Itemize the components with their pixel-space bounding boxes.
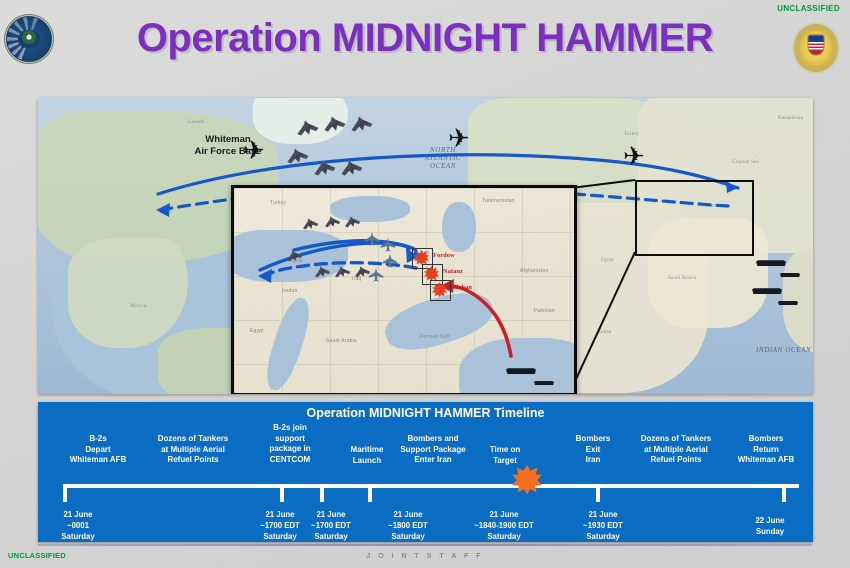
timeline-date-line: Saturday — [558, 531, 648, 542]
timeline-date-line: Saturday — [30, 531, 126, 542]
timeline-date-line: ~0001 — [30, 520, 126, 531]
timeline-event-date: 21 June ~1800 EDT Saturday — [368, 509, 448, 542]
timeline-title: Operation MIDNIGHT HAMMER Timeline — [38, 406, 813, 420]
map-highlight-region-box — [635, 180, 754, 256]
page-title: Operation MIDNIGHT HAMMER — [0, 16, 850, 61]
timeline-tick — [320, 484, 324, 502]
timeline-event-line: Whiteman AFB — [718, 455, 814, 466]
timeline-date-line: 21 June — [444, 509, 564, 520]
operation-map: Canada Mexico Libya Egypt Turkey Iran Sa… — [38, 98, 813, 394]
timeline-event-date: 21 June ~1840-1900 EDT Saturday — [444, 509, 564, 542]
timeline-event-label: B-2s join support package in CENTCOM — [243, 423, 337, 465]
timeline-event-line: CENTCOM — [243, 455, 337, 466]
inset-route-paths — [234, 188, 574, 393]
timeline-event-line: Bombers — [718, 434, 814, 445]
fighter-escort-icon — [380, 238, 396, 252]
warship-icon — [752, 284, 782, 294]
timeline-event-date: 21 June ~1700 EDT Saturday — [291, 509, 371, 542]
whiteman-afb-label-line: Air Force Base — [168, 146, 288, 158]
timeline-event-line: Bombers and — [372, 434, 494, 445]
warship-icon — [534, 378, 554, 385]
timeline-event-line: Return — [718, 445, 814, 456]
fighter-escort-icon — [382, 254, 398, 268]
timeline-date-line: 21 June — [30, 509, 126, 520]
fighter-escort-icon — [368, 268, 384, 282]
timeline-tick — [782, 484, 786, 502]
inset-connector-top — [571, 180, 635, 188]
timeline-event-line: support — [243, 434, 337, 445]
maritime-strike-path — [444, 286, 511, 356]
whiteman-afb-label: Whiteman Air Force Base — [168, 134, 288, 158]
warship-icon — [780, 270, 800, 277]
route-return-arrowhead — [156, 203, 170, 217]
inset-map-middle-east: Turkey Syria Iraq Iran Saudi Arabia Jord… — [231, 185, 577, 394]
footer-organization: J O I N T S T A F F — [0, 553, 850, 560]
inset-connector-bottom — [571, 252, 635, 390]
timeline-date-line: Saturday — [444, 531, 564, 542]
fighter-escort-icon — [364, 232, 380, 246]
timeline-event-line: package in — [243, 444, 337, 455]
timeline-event-label: Time on Target — [463, 445, 547, 466]
timeline-date-line: 22 June — [728, 515, 812, 526]
strike-target-label: Fordow — [433, 252, 455, 259]
timeline-event-date: 21 June ~1930 EDT Saturday — [558, 509, 648, 542]
timeline-date-line: Saturday — [291, 531, 371, 542]
timeline-event-date: 22 June Sunday — [728, 515, 812, 537]
timeline-date-line: 21 June — [291, 509, 371, 520]
classification-banner-top: UNCLASSIFIED — [777, 4, 840, 13]
timeline-panel: Operation MIDNIGHT HAMMER Timeline B-2s … — [38, 402, 813, 542]
strike-target-label: Isfahan — [451, 284, 472, 291]
timeline-date-line: ~1930 EDT — [558, 520, 648, 531]
timeline-tick — [280, 484, 284, 502]
timeline-event-label: Bombers Return Whiteman AFB — [718, 434, 814, 466]
timeline-date-line: ~1800 EDT — [368, 520, 448, 531]
footer-divider — [38, 544, 812, 546]
timeline-event-line: Time on — [463, 445, 547, 456]
strike-target-label: Natanz — [443, 268, 463, 275]
timeline-date-line: Saturday — [368, 531, 448, 542]
timeline-event-date: 21 June ~0001 Saturday — [30, 509, 126, 542]
warship-icon — [756, 256, 786, 266]
timeline-event-label: Dozens of Tankers at Multiple Aerial Ref… — [128, 434, 258, 466]
timeline-event-line: Refuel Points — [128, 455, 258, 466]
timeline-tick — [63, 484, 67, 502]
timeline-tick — [368, 484, 372, 502]
warship-icon — [506, 364, 536, 374]
timeline-axis — [63, 484, 799, 488]
slide-root: UNCLASSIFIED UNCLASSIFIED J O I N T S T … — [0, 0, 850, 568]
timeline-date-line: ~1700 EDT — [291, 520, 371, 531]
timeline-date-line: 21 June — [368, 509, 448, 520]
timeline-event-line: Dozens of Tankers — [128, 434, 258, 445]
whiteman-afb-label-line: Whiteman — [168, 134, 288, 146]
warship-icon — [778, 298, 798, 305]
timeline-event-line: Target — [463, 456, 547, 467]
timeline-date-line: Sunday — [728, 526, 812, 537]
timeline-date-line: 21 June — [558, 509, 648, 520]
timeline-date-line: ~1840-1900 EDT — [444, 520, 564, 531]
timeline-tick — [596, 484, 600, 502]
timeline-event-line: at Multiple Aerial — [128, 445, 258, 456]
timeline-event-line: B-2s join — [243, 423, 337, 434]
